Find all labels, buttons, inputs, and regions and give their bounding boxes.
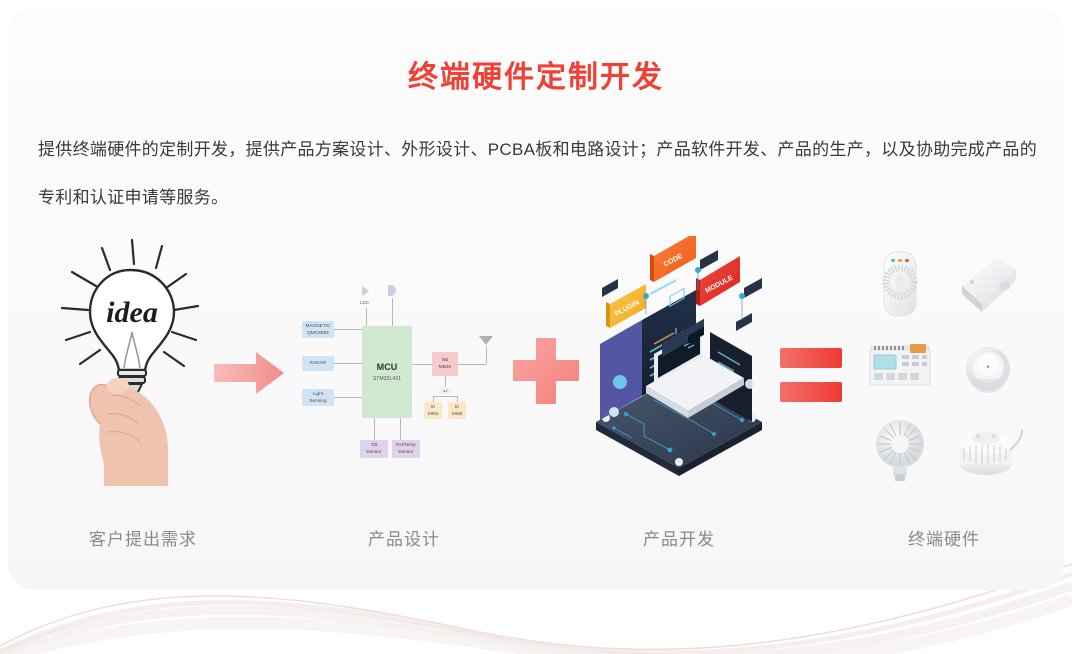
block-line2: Sensor [398, 449, 413, 456]
block-radar: RADAR [302, 356, 334, 371]
block-line1: Tilt [371, 442, 377, 449]
product-smoke-detector [948, 410, 1028, 490]
description-paragraph: 提供终端硬件的定制开发，提供产品方案设计、外形设计、PCBA板和电路设计；产品软… [38, 126, 1038, 222]
wire [392, 298, 393, 326]
wire [334, 363, 362, 364]
product-led-bulb-lamp [860, 410, 940, 490]
block-line1: NB [442, 357, 449, 364]
sim-bus-label: x2 [439, 387, 452, 394]
block-sim2: IC SIM2 [448, 402, 466, 419]
wire [412, 364, 432, 365]
block-line2: SIM1 [427, 411, 438, 418]
isometric-development-illustration: PLUGIN CODE MODULE [584, 236, 774, 476]
wire [334, 329, 362, 330]
sim-bus-text: x2 [443, 388, 447, 394]
block-line1: IC [455, 404, 460, 411]
block-line1: IC [431, 404, 436, 411]
block-sim1: IC SIM1 [424, 402, 442, 419]
product-grid: ● [856, 242, 1032, 492]
block-mcu: MCU STM32L431 [362, 326, 412, 418]
process-flow: idea 客户提出需求 [8, 236, 1064, 536]
mcu-title: MCU [377, 361, 398, 375]
wire [400, 418, 401, 440]
block-diagram: LED MAGNETIC QMC5883 RADAR Light Sensing [300, 284, 508, 474]
block-line1: RADAR [310, 360, 327, 367]
block-magnetic: MAGNETIC QMC5883 [302, 321, 334, 338]
dev-card-code: CODE [650, 236, 696, 282]
svg-text:●: ● [986, 364, 989, 370]
wire [433, 396, 457, 397]
block-line2: QMC5883 [307, 330, 329, 337]
led-triangle-icon [362, 286, 369, 296]
stage-caption-product-design: 产品设计 [300, 525, 508, 550]
wire [366, 308, 367, 326]
block-line2: Sensor [366, 449, 381, 456]
antenna-icon [479, 336, 493, 345]
stage-caption-product-development: 产品开发 [584, 525, 774, 550]
stage-caption-customer-requirement: 客户提出需求 [56, 525, 230, 550]
wire [374, 418, 375, 440]
flow-arrow-icon [212, 348, 286, 398]
block-rh-temp-sensor: RH/Temp Sensor [392, 440, 420, 458]
flow-plus-icon [511, 336, 581, 406]
block-line2: Sensing [309, 398, 326, 405]
page-title: 终端硬件定制开发 [8, 52, 1064, 96]
block-line2: SIM2 [451, 411, 462, 418]
block-line1: RH/Temp [396, 442, 416, 449]
product-round-alarm: ● [948, 327, 1028, 407]
equals-bar-bottom [780, 382, 842, 402]
content-card: 终端硬件定制开发 提供终端硬件的定制开发，提供产品方案设计、外形设计、PCBA板… [8, 8, 1064, 590]
block-tilt-sensor: Tilt Sensor [360, 440, 388, 458]
wire [486, 346, 487, 364]
stage-terminal-hardware: ● [856, 236, 1032, 506]
block-light-sensing: Light Sensing [302, 389, 334, 406]
equals-bar-top [780, 348, 842, 368]
product-door-window-sensor [948, 244, 1028, 324]
wire [334, 397, 362, 398]
product-gas-detector [860, 244, 940, 324]
wire [458, 364, 486, 365]
stage-caption-terminal-hardware: 终端硬件 [856, 525, 1032, 550]
block-nb-module: NB MB26 [432, 352, 458, 376]
block-line1: Light [313, 391, 323, 398]
stage-customer-requirement: idea 客户提出需求 [56, 236, 230, 506]
led-label: LED [360, 300, 369, 305]
lightbulb-idea-text: idea [106, 296, 158, 329]
stage-product-development: PLUGIN CODE MODULE [584, 236, 774, 506]
mcu-part-number: STM32L431 [373, 376, 401, 384]
block-line2: MB26 [439, 364, 451, 371]
flow-equals-icon [780, 348, 842, 402]
hand-idea-lightbulb-illustration: idea [56, 236, 230, 486]
stage-product-design: LED MAGNETIC QMC5883 RADAR Light Sensing [300, 236, 508, 506]
product-control-panel [860, 327, 940, 407]
led-dome-icon [388, 285, 396, 296]
block-line1: MAGNETIC [305, 323, 330, 330]
